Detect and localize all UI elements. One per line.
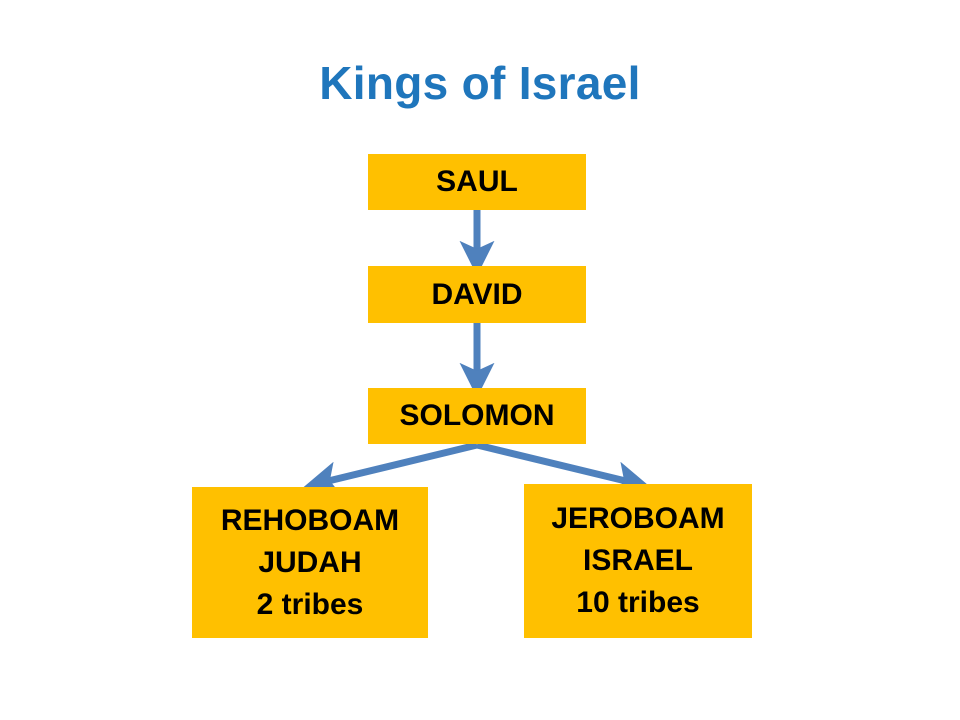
node-saul-label: SAUL xyxy=(436,167,518,197)
node-rehoboam-tribes: 2 tribes xyxy=(257,590,364,620)
node-rehoboam-kingdom: JUDAH xyxy=(258,548,361,578)
node-jeroboam-tribes: 10 tribes xyxy=(576,588,699,618)
node-jeroboam: JEROBOAM ISRAEL 10 tribes xyxy=(524,484,752,638)
node-david-label: DAVID xyxy=(431,280,522,310)
page-title: Kings of Israel xyxy=(0,58,960,109)
connector-solomon-to-rehoboam xyxy=(320,445,477,483)
connector-solomon-to-jeroboam xyxy=(477,445,634,483)
slide-canvas: Kings of Israel SAUL DAVID SOLOMON REHOB… xyxy=(0,0,960,720)
node-david: DAVID xyxy=(368,266,586,323)
node-saul: SAUL xyxy=(368,154,586,210)
node-jeroboam-name: JEROBOAM xyxy=(551,504,724,534)
node-solomon-label: SOLOMON xyxy=(400,401,555,431)
node-rehoboam-name: REHOBOAM xyxy=(221,506,399,536)
node-solomon: SOLOMON xyxy=(368,388,586,444)
node-jeroboam-kingdom: ISRAEL xyxy=(583,546,693,576)
node-rehoboam: REHOBOAM JUDAH 2 tribes xyxy=(192,487,428,638)
